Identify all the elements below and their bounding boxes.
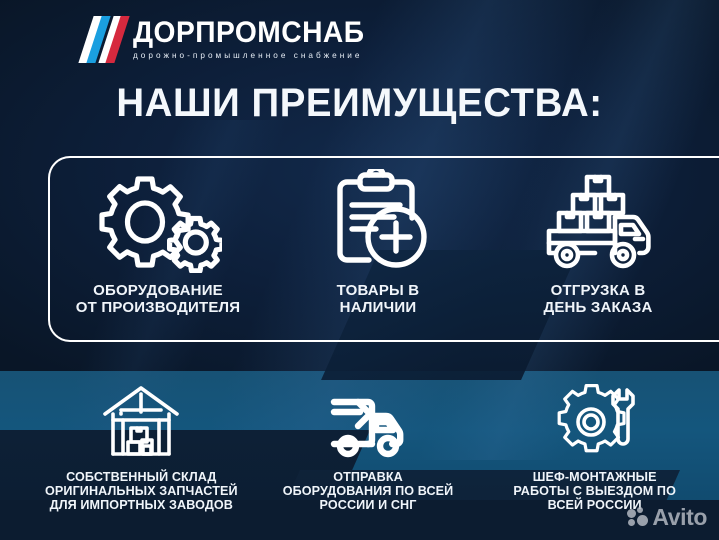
feature-caption: ТОВАРЫ В НАЛИЧИИ bbox=[337, 283, 420, 317]
brand-tagline: дорожно-промышленное снабжение bbox=[133, 49, 377, 61]
feature-item: СОБСТВЕННЫЙ СКЛАД ОРИГИНАЛЬНЫХ ЗАПЧАСТЕЙ… bbox=[28, 382, 255, 522]
feature-item: ОТПРАВКА ОБОРУДОВАНИЯ ПО ВСЕЙ РОССИИ И С… bbox=[255, 382, 482, 522]
slanted-bars-logo-icon bbox=[84, 16, 128, 63]
brand-wordmark: ДОРПРОМСНАБ дорожно-промышленное снабжен… bbox=[133, 16, 379, 61]
gears-icon bbox=[94, 168, 222, 273]
feature-caption: ОТГРУЗКА В ДЕНЬ ЗАКАЗА bbox=[543, 283, 652, 317]
truck-boxes-icon bbox=[535, 168, 661, 273]
feature-item: ОБОРУДОВАНИЕ ОТ ПРОИЗВОДИТЕЛЯ bbox=[48, 168, 268, 333]
warehouse-icon bbox=[101, 382, 181, 458]
feature-item: ТОВАРЫ В НАЛИЧИИ bbox=[268, 168, 488, 333]
features-top-row: ОБОРУДОВАНИЕ ОТ ПРОИЗВОДИТЕЛЯ ТОВАРЫ В Н… bbox=[48, 168, 708, 333]
feature-caption: СОБСТВЕННЫЙ СКЛАД ОРИГИНАЛЬНЫХ ЗАПЧАСТЕЙ… bbox=[45, 470, 238, 513]
delivery-van-arrow-icon bbox=[320, 382, 416, 458]
gear-wrench-icon bbox=[553, 382, 637, 458]
brand-name: ДОРПРОМСНАБ bbox=[133, 17, 365, 48]
avito-watermark: Avito bbox=[627, 506, 707, 529]
avito-dots-icon bbox=[627, 507, 648, 528]
feature-caption: ОБОРУДОВАНИЕ ОТ ПРОИЗВОДИТЕЛЯ bbox=[76, 283, 241, 317]
feature-caption: ОТПРАВКА ОБОРУДОВАНИЯ ПО ВСЕЙ РОССИИ И С… bbox=[283, 470, 454, 513]
feature-item: ОТГРУЗКА В ДЕНЬ ЗАКАЗА bbox=[488, 168, 708, 333]
brand-logo: ДОРПРОМСНАБ дорожно-промышленное снабжен… bbox=[84, 16, 379, 63]
advertisement-poster: ДОРПРОМСНАБ дорожно-промышленное снабжен… bbox=[0, 0, 719, 540]
avito-label: Avito bbox=[652, 506, 707, 529]
clipboard-plus-icon bbox=[324, 168, 432, 273]
page-title: НАШИ ПРЕИМУЩЕСТВА: bbox=[14, 80, 704, 126]
feature-item: ШЕФ-МОНТАЖНЫЕ РАБОТЫ С ВЫЕЗДОМ ПО ВСЕЙ Р… bbox=[481, 382, 708, 522]
features-bottom-row: СОБСТВЕННЫЙ СКЛАД ОРИГИНАЛЬНЫХ ЗАПЧАСТЕЙ… bbox=[28, 382, 708, 522]
